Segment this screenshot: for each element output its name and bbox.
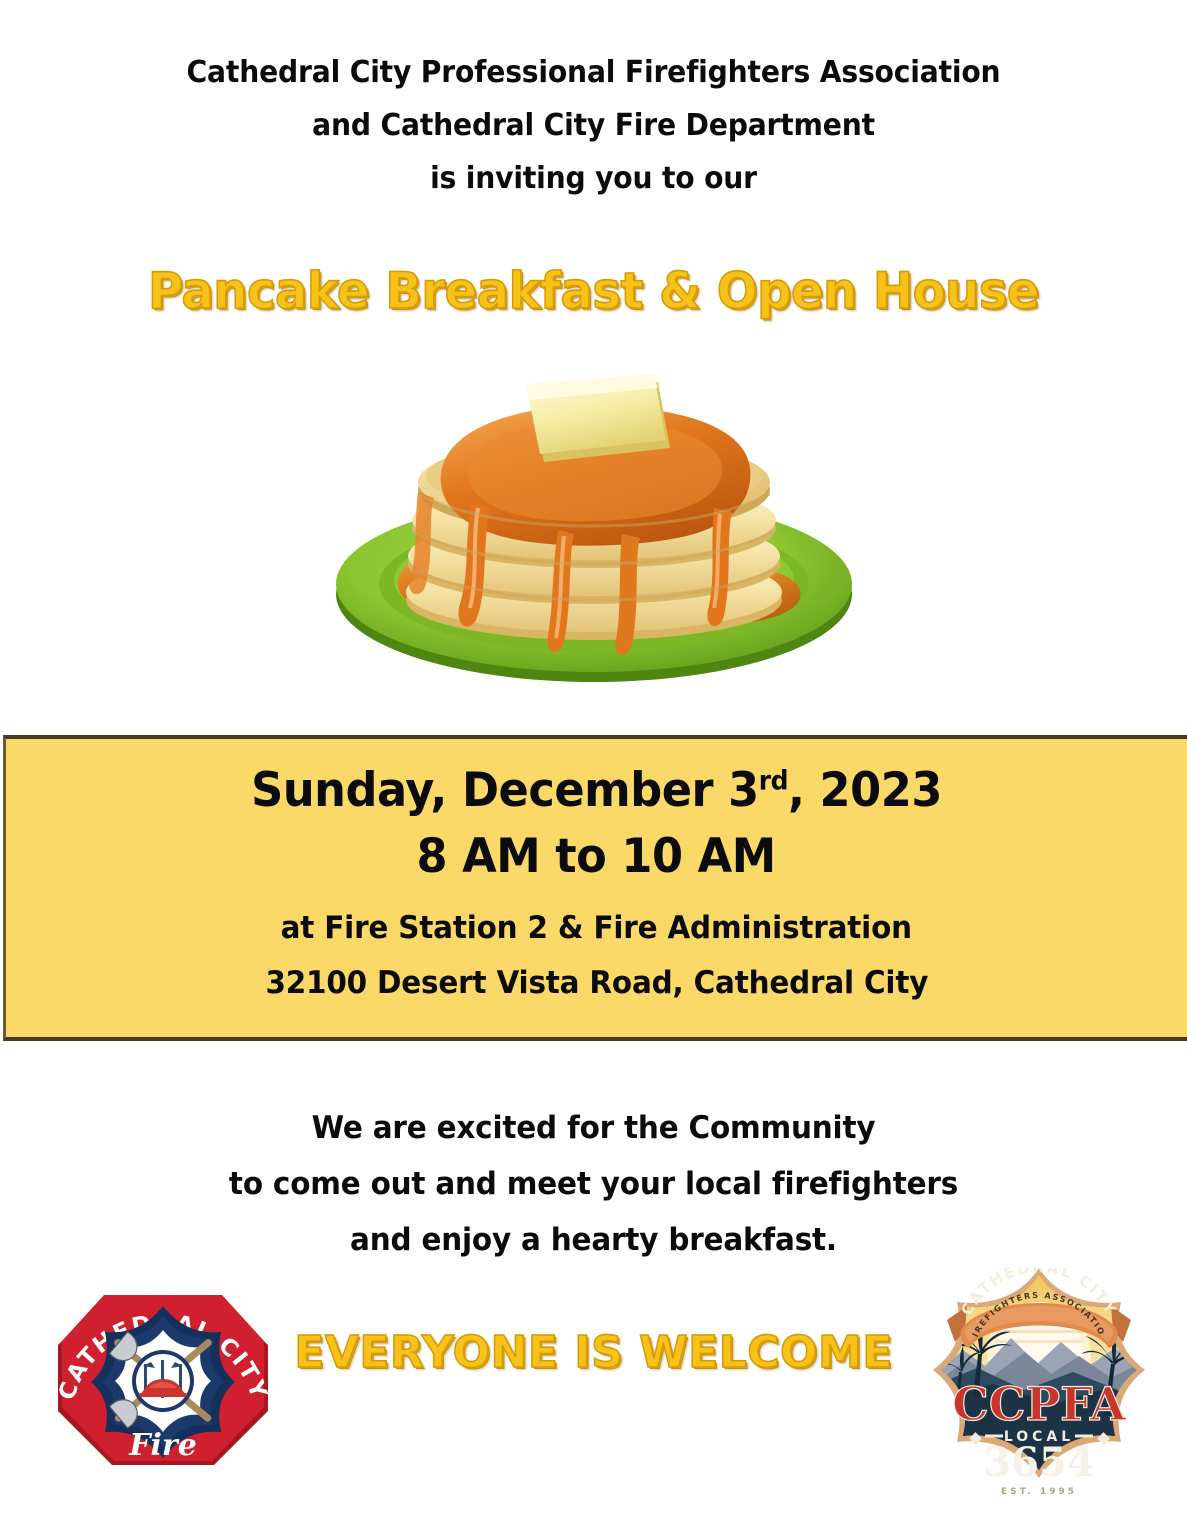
ccpfa-established: EST. 1995: [1001, 1487, 1077, 1497]
event-date-ordinal: rd: [759, 766, 788, 796]
event-date-text: Sunday, December 3: [251, 763, 759, 818]
message-line-2: to come out and meet your local firefigh…: [30, 1169, 1158, 1200]
flyer-page: Cathedral City Professional Firefighters…: [0, 0, 1187, 1536]
event-title: Pancake Breakfast & Open House: [24, 262, 1164, 320]
pancake-stack-illustration: [322, 352, 867, 697]
event-date-year: , 2023: [788, 763, 942, 818]
ccpfa-local-number: 3654: [983, 1439, 1094, 1486]
event-date: Sunday, December 3rd, 2023: [251, 767, 942, 814]
cathedral-city-fire-badge: CATHEDRAL CITY: [44, 1287, 282, 1497]
message-line-3: and enjoy a hearty breakfast.: [30, 1225, 1158, 1256]
message-line-1: We are excited for the Community: [30, 1113, 1158, 1144]
ccpfa-acronym: CCPFA: [952, 1377, 1127, 1431]
ccpfa-local-3654-logo: CATHEDRAL CITY FIREFIGHTERS ASSOCIATION …: [933, 1268, 1146, 1523]
badge-script-text: Fire: [128, 1428, 197, 1463]
intro-line-3: is inviting you to our: [36, 164, 1152, 194]
intro-line-2: and Cathedral City Fire Department: [36, 111, 1152, 141]
event-time: 8 AM to 10 AM: [417, 833, 776, 880]
community-message: We are excited for the Community to come…: [0, 1113, 1187, 1281]
event-details-banner: Sunday, December 3rd, 2023 8 AM to 10 AM…: [3, 735, 1187, 1041]
intro-line-1: Cathedral City Professional Firefighters…: [36, 58, 1152, 88]
intro-heading: Cathedral City Professional Firefighters…: [0, 58, 1187, 217]
event-venue: at Fire Station 2 & Fire Administration: [281, 913, 912, 944]
event-address: 32100 Desert Vista Road, Cathedral City: [265, 968, 928, 999]
